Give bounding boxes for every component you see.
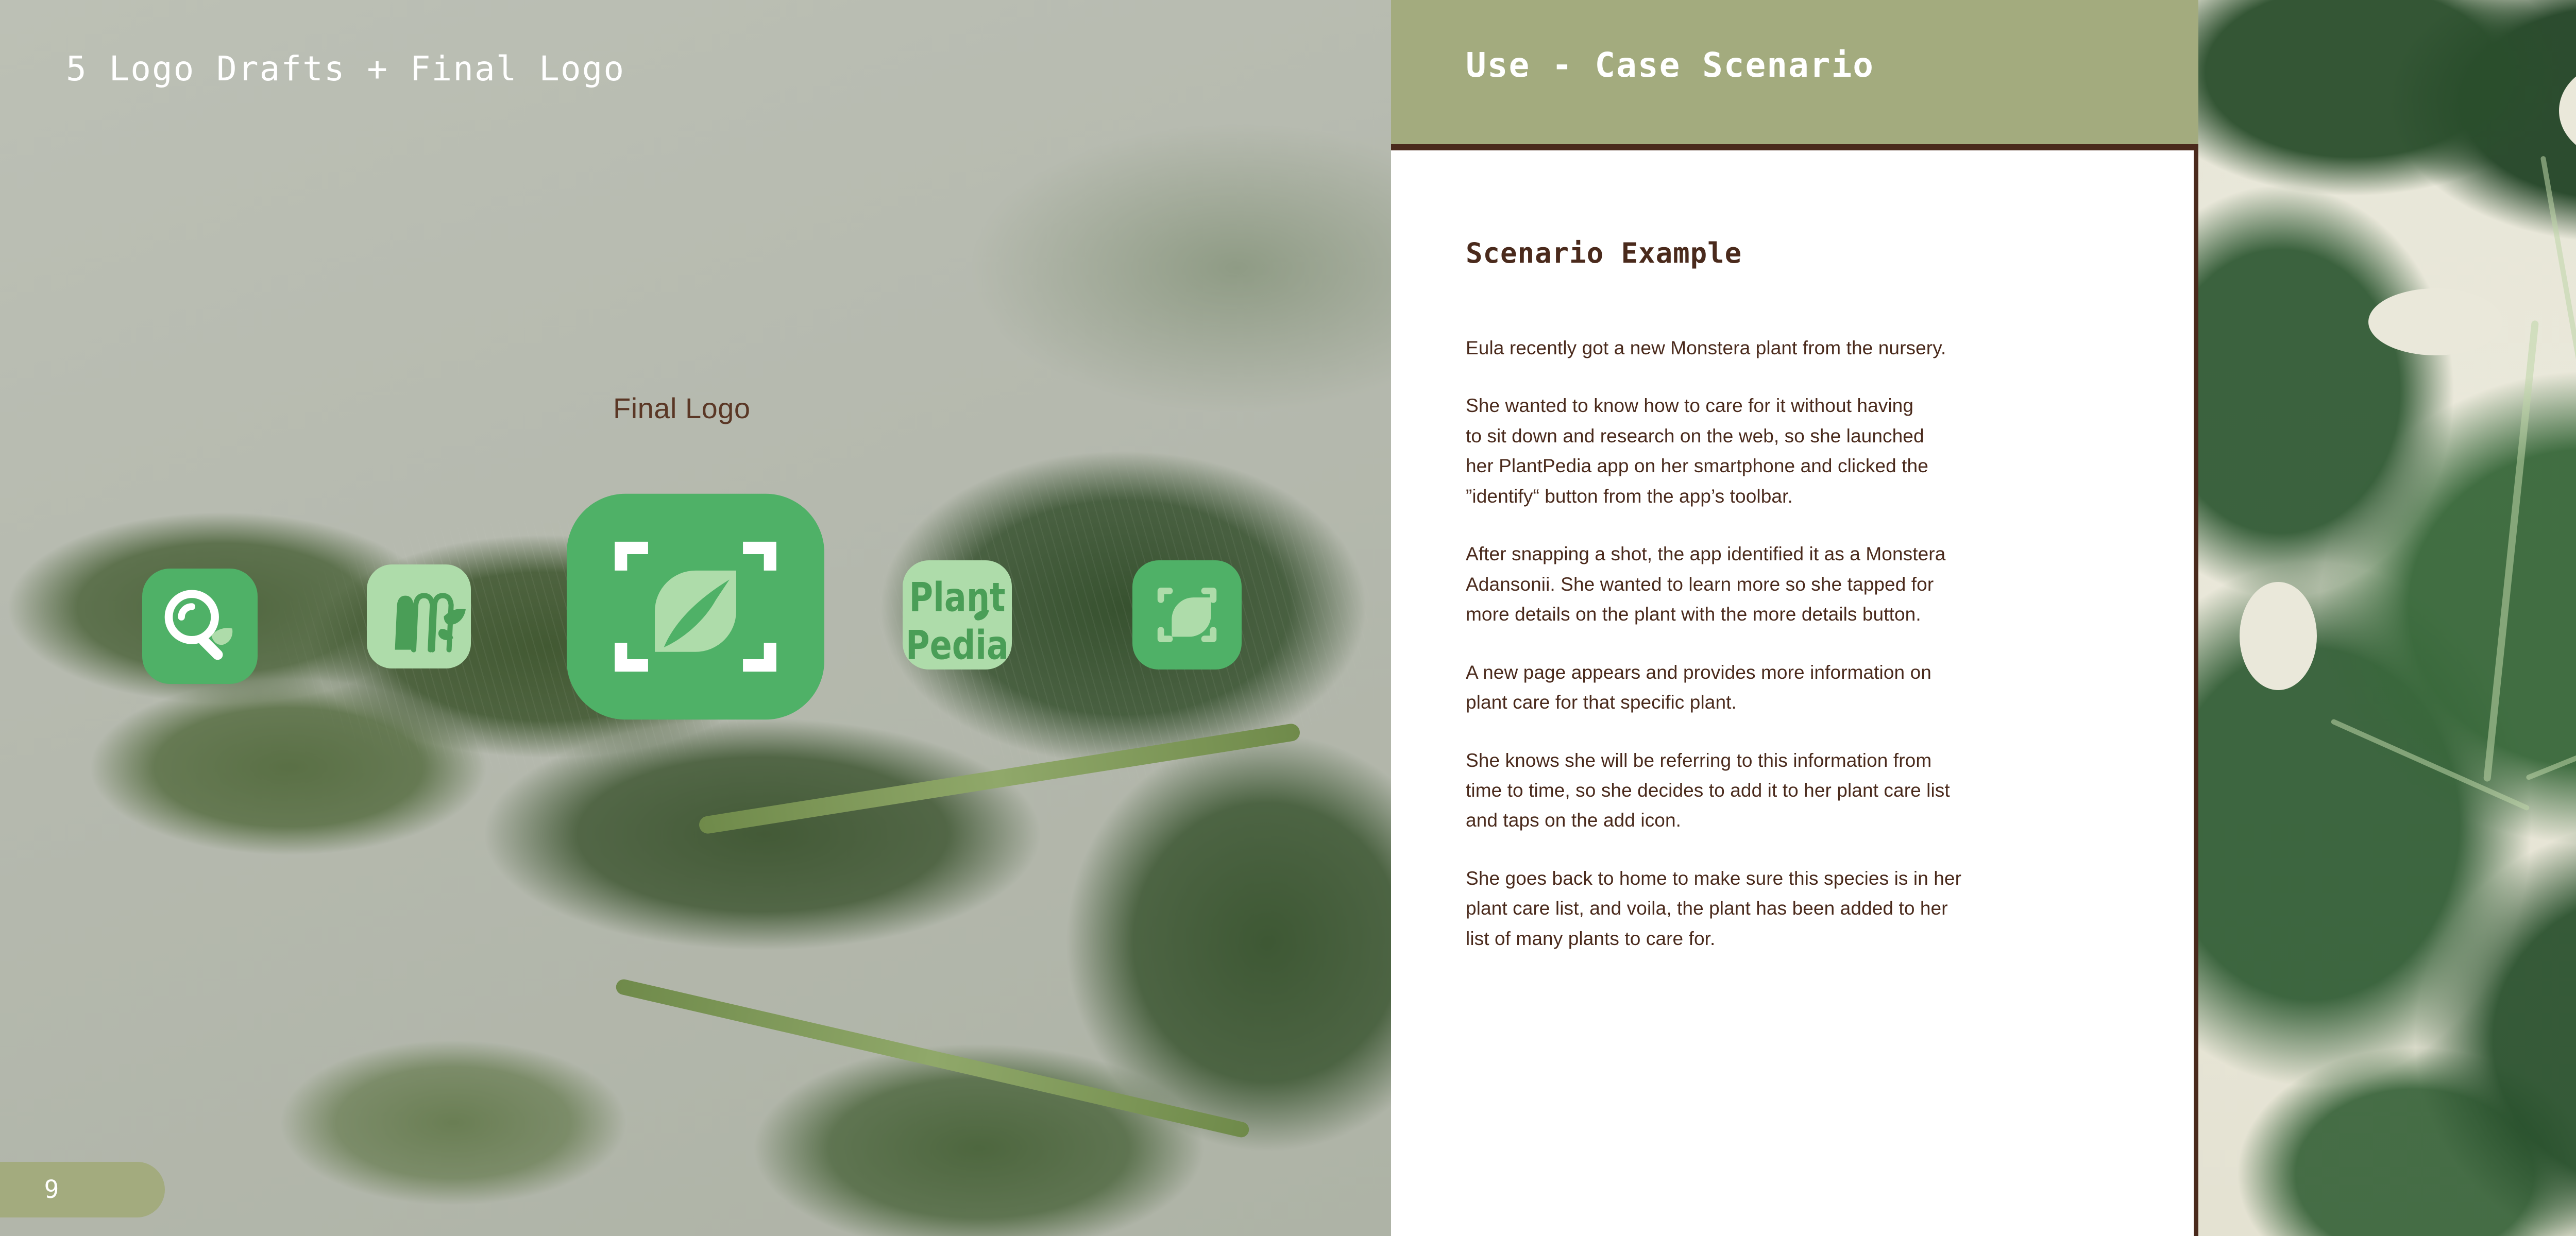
slide-use-case-scenario: Use - Case Scenario Scenario Example Eul…	[1391, 0, 2576, 1236]
scenario-paragraph: She knows she will be referring to this …	[1466, 746, 2099, 836]
scenario-body: Scenario Example Eula recently got a new…	[1466, 237, 2099, 982]
scenario-paragraph: Eula recently got a new Monstera plant f…	[1466, 333, 2099, 363]
header-band: Use - Case Scenario	[1391, 0, 2198, 150]
scenario-paragraph: After snapping a shot, the app identifie…	[1466, 539, 2099, 629]
plantpedia-line1: Plant	[909, 574, 1005, 621]
plant-stems-m-logo[interactable]	[367, 564, 471, 668]
scan-leaf-logo-final[interactable]	[567, 493, 824, 720]
scenario-paragraph: A new page appears and provides more inf…	[1466, 658, 2099, 718]
page-number-badge: 9	[0, 1162, 165, 1217]
page-title: Use - Case Scenario	[1466, 45, 1874, 85]
scenario-paragraph: She wanted to know how to care for it wi…	[1466, 391, 2099, 511]
monstera-leaf-photo	[2198, 0, 2576, 1236]
plantpedia-wordmark-logo[interactable]: Plant Pedia	[903, 560, 1012, 669]
page-number: 9	[44, 1175, 59, 1204]
plantpedia-line2: Pedia	[906, 622, 1009, 668]
final-logo-caption: Final Logo	[613, 391, 751, 425]
scan-leaf-logo-alt[interactable]	[1132, 560, 1242, 669]
scenario-paragraph: She goes back to home to make sure this …	[1466, 864, 2099, 954]
magnifier-leaf-logo[interactable]	[142, 569, 258, 684]
slide-deck: 5 Logo Drafts + Final Logo Final Logo	[0, 0, 2576, 1236]
slide-logo-drafts: 5 Logo Drafts + Final Logo Final Logo	[0, 0, 1391, 1236]
content-column: Use - Case Scenario Scenario Example Eul…	[1391, 0, 2198, 1236]
page-title: 5 Logo Drafts + Final Logo	[66, 49, 625, 89]
section-heading: Scenario Example	[1466, 237, 2099, 269]
